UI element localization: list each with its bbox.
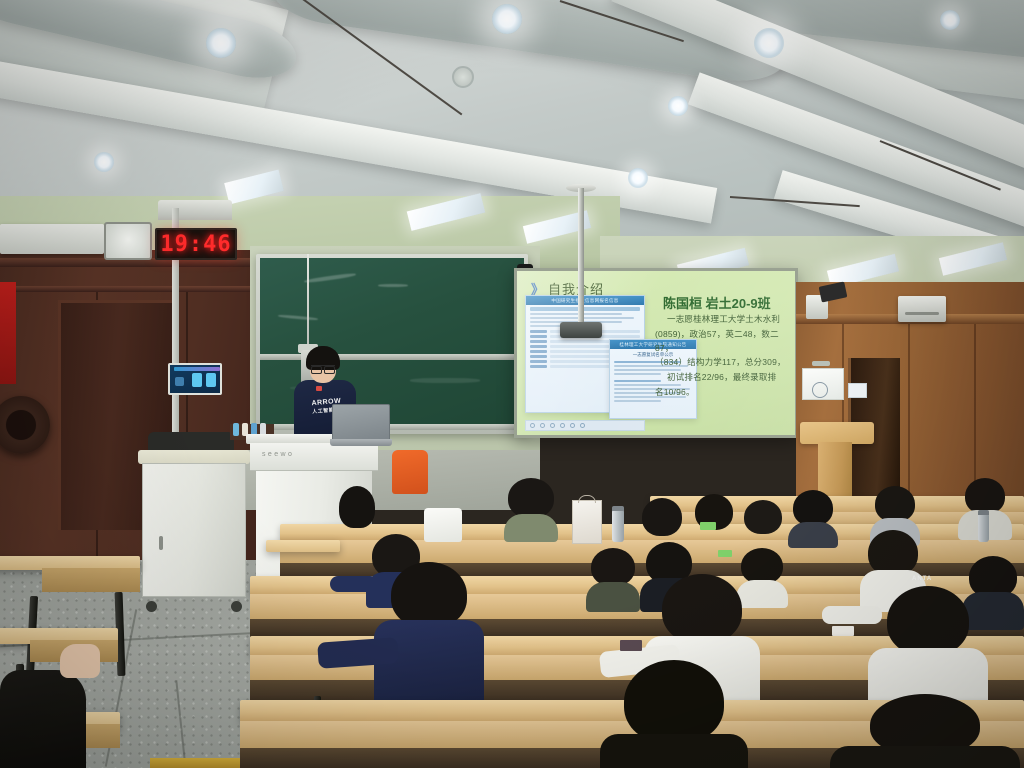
phone-on-desk-2[interactable] [718, 550, 732, 557]
digital-clock-time: 19:46 [160, 232, 231, 257]
student-foreground-left-dark [0, 670, 86, 768]
paper-shopping-bag [572, 500, 602, 544]
student-head [508, 478, 554, 518]
student-torso [504, 514, 558, 542]
slide-screenshot-toolbar [525, 420, 645, 431]
side-desk-mid [266, 540, 340, 580]
presenter-laptop[interactable] [330, 404, 392, 448]
laptop-screen-back [332, 404, 390, 440]
toolbar-icon-1 [530, 423, 535, 428]
lecture-hall-photo: 19:46 》自我介绍 中国研究生招生 [0, 0, 1024, 768]
student-head [624, 660, 724, 744]
student-head [887, 586, 969, 656]
presenter-shirt-tag [316, 386, 322, 391]
ceiling-smoke-detector [452, 66, 474, 88]
side-desk-top [266, 540, 340, 552]
slide-body-text: 一志愿桂林理工大学土木水利 (0859)，政治57，英二48，数二87， （83… [655, 313, 795, 401]
toolbar-icon-3 [550, 423, 555, 428]
av-screen-icon-3 [206, 373, 216, 387]
slide-body-line-2: (0859)，政治57，英二48，数二87， [655, 328, 795, 356]
student-torso [586, 582, 640, 612]
ceiling-downlight-4 [94, 152, 114, 172]
student-shirt-text-anta: ANTA [912, 576, 932, 582]
digital-led-clock: 19:46 [155, 228, 237, 260]
student-head [793, 490, 833, 526]
screenshot-1-line-1 [530, 313, 622, 315]
cabinet-handle[interactable] [159, 536, 163, 550]
student-head [339, 486, 375, 528]
equipment-cabinet [138, 450, 250, 612]
student-back-6 [788, 490, 838, 546]
cabinet-caster-right [231, 601, 242, 612]
bottle-cap [612, 506, 624, 511]
toolbar-icon-4 [560, 423, 565, 428]
student-front-1 [374, 562, 484, 692]
bag-handle-icon [578, 495, 596, 503]
field-label [530, 345, 547, 348]
slide-body-line-4: 初试排名22/96，最终录取排 [655, 371, 795, 385]
av-screen-icon-1 [175, 377, 184, 386]
desk-1-side [42, 568, 140, 592]
chalk-smudge-4 [410, 378, 480, 383]
projection-screen-frame: 》自我介绍 中国研究生招生信息网报名信息 桂林 [514, 268, 798, 438]
field-label [530, 355, 547, 358]
av-control-touchscreen[interactable] [168, 363, 222, 395]
chair-orange [392, 450, 428, 494]
slide-body-line-5: 名10/96。 [655, 386, 795, 400]
air-conditioner-vent [0, 224, 104, 254]
cabinet-caster-left [146, 601, 157, 612]
student-front-5 [830, 694, 1020, 768]
student-head [744, 500, 782, 534]
student-head [662, 574, 742, 644]
student-foreground-left-arm [60, 644, 100, 678]
cabinet-top [138, 450, 250, 464]
projector-mount-pole [578, 188, 584, 332]
student-front-1-arm [317, 637, 399, 669]
analog-wall-clock [104, 222, 152, 260]
student-back-4 [692, 494, 736, 546]
ceiling-downlight-1 [206, 28, 236, 58]
student-back-5 [740, 500, 786, 550]
bottle-cap [978, 510, 989, 515]
chalk-smudge-2 [378, 284, 408, 287]
field-label [530, 340, 547, 343]
field-label [530, 350, 547, 353]
presenter-glasses-icon [311, 365, 335, 371]
phone-on-desk-1[interactable] [700, 522, 716, 530]
cabinet-door[interactable] [142, 463, 246, 597]
field-label [530, 335, 547, 338]
wall-left-trim-lower [0, 286, 268, 292]
projector-body [560, 322, 602, 338]
toolbar-icon-5 [570, 423, 575, 428]
student-head [965, 478, 1005, 514]
ceiling-downlight-2 [492, 4, 522, 34]
laptop-base [330, 439, 392, 446]
red-banner-poster [0, 282, 16, 384]
shelf-bottle-1 [233, 423, 239, 436]
sign-mount-bracket [812, 361, 830, 366]
student-torso [600, 734, 748, 768]
chalk-smudge-1 [304, 272, 356, 283]
ceiling-downlight-5 [668, 96, 688, 116]
toolbar-icon-6 [580, 423, 585, 428]
lectern-brand-label: seewo [262, 451, 294, 458]
av-screen-icon-2 [192, 373, 202, 387]
student-mid-6 [586, 548, 640, 610]
student-head [391, 562, 467, 628]
ceiling-downlight-3 [754, 28, 784, 58]
av-screen-topbar [174, 367, 220, 371]
water-bottle-1 [612, 510, 624, 542]
student-back-2 [504, 478, 558, 540]
field-label [530, 330, 547, 333]
sign-seal-icon [812, 382, 828, 398]
student-front-4 [600, 660, 748, 768]
student-head [591, 548, 635, 586]
phone-in-hand[interactable] [620, 640, 642, 651]
paper-on-bench [832, 626, 854, 636]
screenshot-1-header: 中国研究生招生信息网报名信息 [526, 296, 644, 305]
field-label [530, 360, 547, 363]
water-bottle-2 [978, 514, 989, 542]
projection-screen: 》自我介绍 中国研究生招生信息网报名信息 桂林 [517, 271, 795, 435]
student-head [875, 486, 915, 522]
wall-notice-sign-small [848, 383, 867, 398]
slide-student-name: 陈国桓 岩土20-9班 [663, 293, 771, 312]
student-head [642, 498, 682, 536]
ceiling-downlight-7 [940, 10, 960, 30]
slide-body-line-3: （834）结构力学117，总分309， [655, 356, 795, 370]
slide-body-line-1: 一志愿桂林理工大学土木水利 [655, 313, 795, 327]
screenshot-1-subheader [530, 307, 640, 311]
field-label [530, 365, 547, 368]
av-pole-bracket [158, 200, 232, 220]
toolbar-icon-2 [540, 423, 545, 428]
white-plastic-bag [424, 508, 462, 542]
hanging-mic-wire [307, 254, 309, 354]
student-torso [830, 746, 1020, 768]
wall-speaker-right [898, 296, 946, 322]
ceiling-downlight-6 [628, 168, 648, 188]
chalk-smudge-3 [278, 314, 318, 320]
student-torso [788, 522, 838, 548]
podium-top-surface [800, 422, 874, 444]
